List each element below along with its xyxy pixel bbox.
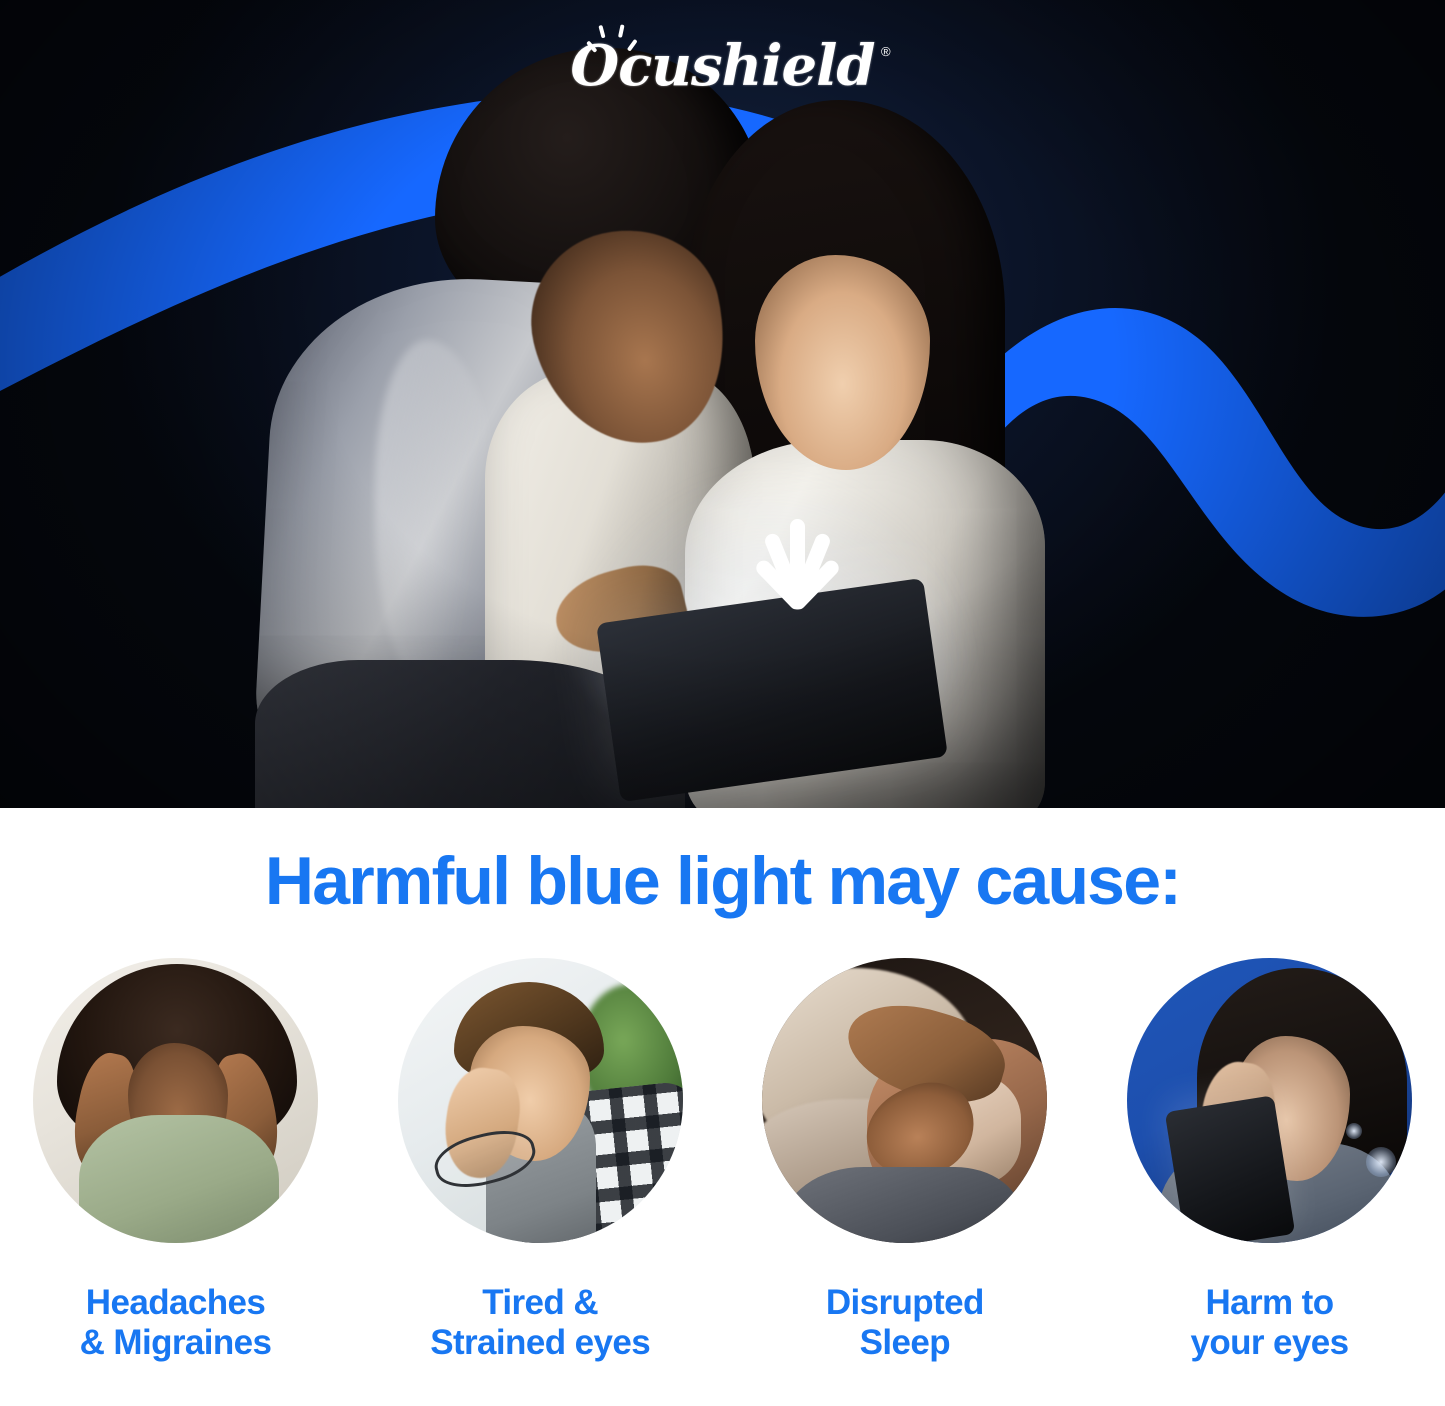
smartphone-device: [1165, 1095, 1296, 1243]
caption-line-2: your eyes: [1190, 1323, 1348, 1363]
symptom-card-list: Headaches & Migraines Tired & Strai: [0, 958, 1445, 1363]
symptom-caption: Harm to your eyes: [1190, 1283, 1348, 1363]
eye-harm-phone-woman-photo: [1127, 958, 1412, 1243]
brand-name: Ocushield: [570, 33, 874, 99]
symptom-card-headaches: Headaches & Migraines: [33, 958, 318, 1363]
headache-woman-photo: [33, 958, 318, 1243]
bokeh-light-shape-small: [1346, 1123, 1362, 1139]
symptom-card-disrupted-sleep: Disrupted Sleep: [762, 958, 1047, 1363]
hero-vignette: [0, 0, 1445, 808]
caption-line-2: Strained eyes: [430, 1323, 650, 1363]
registered-trademark-icon: ®: [881, 44, 891, 59]
blanket-shape: [782, 1167, 1022, 1243]
caption-line-1: Harm to: [1190, 1283, 1348, 1323]
symptom-caption: Headaches & Migraines: [80, 1283, 272, 1363]
symptom-card-harm-to-eyes: Harm to your eyes: [1127, 958, 1412, 1363]
hero-banner: Ocushield ®: [0, 0, 1445, 808]
caption-line-1: Headaches: [80, 1283, 272, 1323]
benefits-section: Harmful blue light may cause: Headaches …: [0, 808, 1445, 1406]
brand-logo: Ocushield ®: [0, 38, 1445, 94]
green-top-shape: [79, 1115, 279, 1243]
caption-line-2: & Migraines: [80, 1323, 272, 1363]
caption-line-1: Tired &: [430, 1283, 650, 1323]
disrupted-sleep-woman-photo: [762, 958, 1047, 1243]
page-title: Harmful blue light may cause:: [0, 842, 1445, 920]
tired-eyes-man-photo: [398, 958, 683, 1243]
symptom-caption: Disrupted Sleep: [826, 1283, 984, 1363]
bokeh-light-shape: [1366, 1147, 1396, 1177]
symptom-caption: Tired & Strained eyes: [430, 1283, 650, 1363]
light-rays-icon: [722, 488, 872, 603]
symptom-card-tired-eyes: Tired & Strained eyes: [398, 958, 683, 1363]
ocushield-blue-light-ad: Ocushield ® Harmful blue light may cause…: [0, 0, 1445, 1406]
caption-line-2: Sleep: [826, 1323, 984, 1363]
caption-line-1: Disrupted: [826, 1283, 984, 1323]
sun-rays-icon: [584, 18, 640, 42]
